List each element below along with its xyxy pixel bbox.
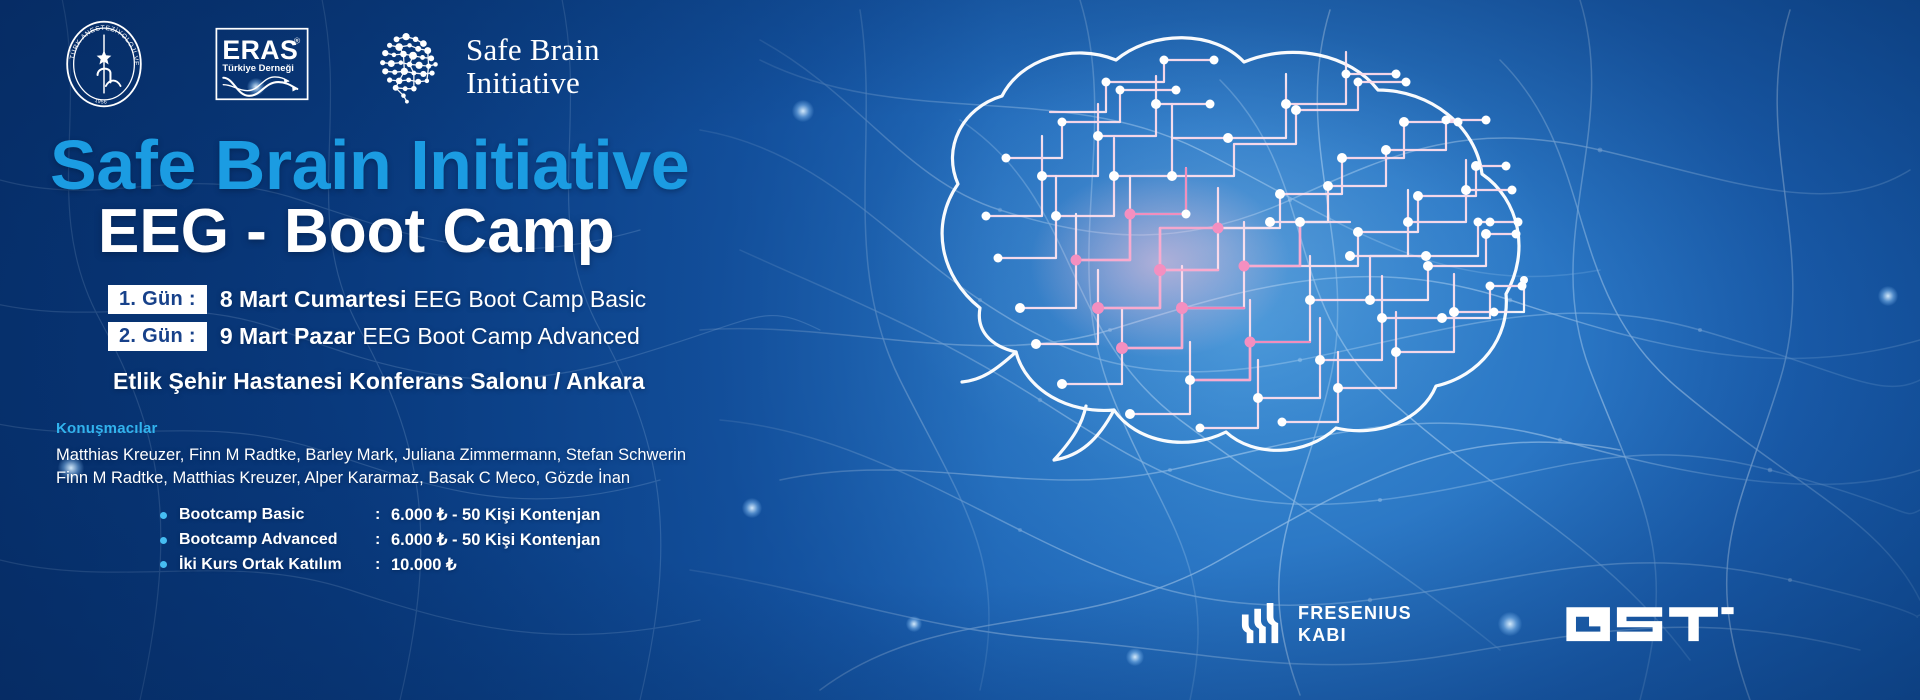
sbi-wordmark-line2: Initiative	[466, 67, 600, 99]
fresenius-kabi-logo: FRESENIUS KABI	[1240, 603, 1412, 647]
day-date: 8 Mart Cumartesi	[220, 286, 407, 313]
pricing-colon: :	[375, 503, 391, 527]
brain-circuit-illustration	[830, 8, 1610, 498]
page-subtitle: EEG - Boot Camp	[98, 196, 615, 267]
venue-text: Etlik Şehir Hastanesi Konferans Salonu /…	[113, 368, 645, 395]
safe-brain-initiative-logo: Safe Brain Initiative	[374, 28, 600, 106]
fresenius-wordmark-line1: FRESENIUS	[1298, 603, 1412, 624]
day-badge: 2. Gün :	[108, 322, 207, 351]
speakers-line: Finn M Radtke, Matthias Kreuzer, Alper K…	[56, 467, 686, 490]
pricing-label: İki Kurs Ortak Katılım	[179, 553, 375, 577]
speakers-line: Matthias Kreuzer, Finn M Radtke, Barley …	[56, 444, 686, 467]
sbi-wordmark: Safe Brain Initiative	[466, 34, 600, 98]
page-title: Safe Brain Initiative	[50, 125, 689, 205]
svg-text:ERAS: ERAS	[222, 35, 298, 65]
sponsor-logo-row: FRESENIUS KABI	[1240, 595, 1738, 654]
tard-logo: TÜRK ANESTEZİYOLOJİ VE REANİMASYON DERNE…	[58, 18, 150, 115]
bullet-icon	[160, 561, 167, 568]
pricing-colon: :	[375, 528, 391, 552]
fresenius-wordmark-line2: KABI	[1298, 625, 1412, 646]
sbi-dot-brain-icon	[374, 28, 452, 106]
pricing-label: Bootcamp Advanced	[179, 528, 375, 552]
pricing-row: İki Kurs Ortak Katılım : 10.000 ₺	[160, 553, 600, 578]
pricing-label: Bootcamp Basic	[179, 503, 375, 527]
eras-logo: ERAS ® Türkiye Derneği	[214, 27, 310, 106]
pricing-value: 6.000 ₺ - 50 Kişi Kontenjan	[391, 528, 600, 553]
sbi-wordmark-line1: Safe Brain	[466, 34, 600, 66]
partner-logo-row: TÜRK ANESTEZİYOLOJİ VE REANİMASYON DERNE…	[58, 18, 600, 115]
day-date: 9 Mart Pazar	[220, 323, 356, 350]
schedule-day-list: 1. Gün : 8 Mart Cumartesi EEG Boot Camp …	[108, 285, 646, 359]
gst-logo	[1562, 595, 1738, 654]
fresenius-wordmark: FRESENIUS KABI	[1298, 603, 1412, 645]
speakers-heading: Konuşmacılar	[56, 420, 686, 437]
pricing-value: 6.000 ₺ - 50 Kişi Kontenjan	[391, 503, 600, 528]
svg-text:®: ®	[294, 35, 301, 45]
bullet-icon	[160, 537, 167, 544]
schedule-day-row: 2. Gün : 9 Mart Pazar EEG Boot Camp Adva…	[108, 322, 646, 351]
speakers-section: Konuşmacılar Matthias Kreuzer, Finn M Ra…	[56, 420, 686, 491]
pricing-row: Bootcamp Advanced : 6.000 ₺ - 50 Kişi Ko…	[160, 528, 600, 553]
svg-text:Türkiye Derneği: Türkiye Derneği	[222, 63, 293, 74]
day-course-name: EEG Boot Camp Advanced	[362, 323, 639, 350]
event-banner: TÜRK ANESTEZİYOLOJİ VE REANİMASYON DERNE…	[0, 0, 1920, 700]
pricing-list: Bootcamp Basic : 6.000 ₺ - 50 Kişi Konte…	[160, 503, 600, 577]
day-badge: 1. Gün :	[108, 285, 207, 314]
schedule-day-row: 1. Gün : 8 Mart Cumartesi EEG Boot Camp …	[108, 285, 646, 314]
pricing-colon: :	[375, 553, 391, 577]
svg-text:TÜRK ANESTEZİYOLOJİ VE REANİMA: TÜRK ANESTEZİYOLOJİ VE REANİMASYON DERNE…	[58, 18, 139, 66]
gst-wordmark-icon	[1562, 595, 1738, 649]
fresenius-mark-icon	[1240, 603, 1282, 647]
pricing-value: 10.000 ₺	[391, 553, 457, 578]
day-course-name: EEG Boot Camp Basic	[413, 286, 646, 313]
bullet-icon	[160, 512, 167, 519]
pricing-row: Bootcamp Basic : 6.000 ₺ - 50 Kişi Konte…	[160, 503, 600, 528]
